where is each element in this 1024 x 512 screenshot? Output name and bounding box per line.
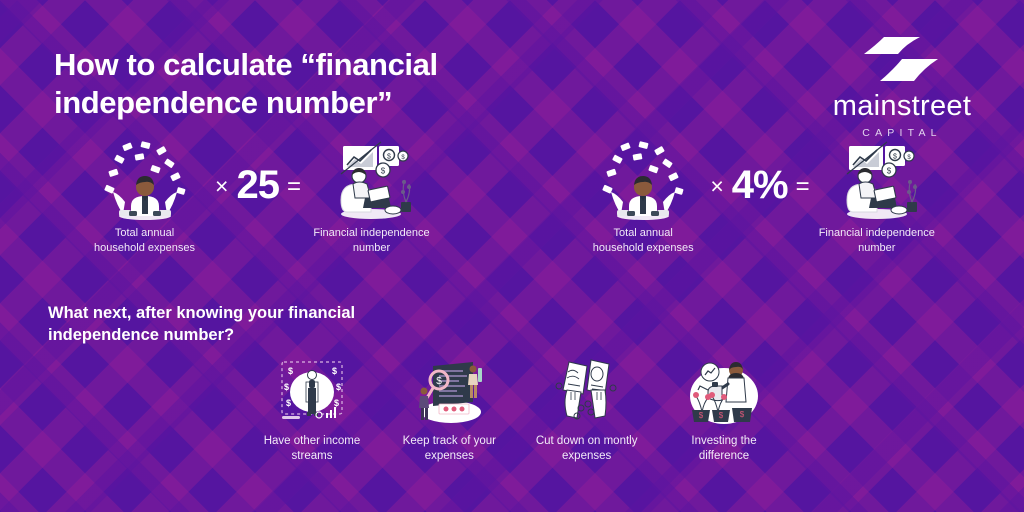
formula-4pct-right-caption: Financial independence number: [814, 226, 940, 255]
svg-text:$: $: [284, 382, 289, 392]
multiply-symbol: ×: [211, 173, 232, 200]
tip-investing-the-difference: $$$ Investing the difference: [660, 356, 788, 464]
formula-4pct-left-term: Total annual household expenses: [580, 140, 706, 255]
formula-4pct-right-term: $ $ $: [814, 140, 940, 255]
svg-text:$: $: [381, 167, 386, 176]
formula-4-percent: Total annual household expenses × 4% = $: [580, 140, 940, 260]
watering-money-plants-icon: $$$: [660, 356, 788, 426]
logo-wordmark: mainstreet: [802, 92, 1002, 121]
svg-text:$: $: [286, 398, 291, 408]
person-with-flying-papers-icon: [580, 140, 706, 220]
svg-text:$: $: [288, 366, 293, 376]
equals-symbol: =: [792, 173, 814, 201]
svg-text:$: $: [893, 154, 897, 161]
page-title-line-1: How to calculate “financial: [54, 46, 574, 84]
formula-25-right-term: $ $ $: [305, 140, 438, 255]
expense-tracking-board-icon: $: [385, 356, 513, 426]
next-section-heading: What next, after knowing your financial …: [48, 303, 408, 347]
tip-have-other-income-streams: $$ $$ $$ Have other income streams: [248, 356, 376, 464]
svg-text:$: $: [332, 366, 337, 376]
formula-25-right-caption: Financial independence number: [305, 226, 438, 255]
next-heading-line-1: What next, after knowing your financial: [48, 303, 408, 325]
next-heading-line-2: independence number?: [48, 325, 408, 347]
formula-25-factor: 25: [232, 163, 283, 208]
svg-text:$: $: [336, 382, 341, 392]
formula-25-left-term: Total annual household expenses: [78, 140, 211, 255]
svg-text:$: $: [699, 411, 704, 420]
person-with-flying-papers-icon: [78, 140, 211, 220]
tip-keep-track-of-expenses: $: [385, 356, 513, 464]
page-title: How to calculate “financial independence…: [54, 46, 574, 121]
tip-cut-down-monthly-expenses: Cut down on montly expenses: [523, 356, 651, 464]
multiply-symbol: ×: [706, 173, 727, 200]
svg-text:$: $: [887, 167, 892, 176]
logo-tagline: CAPITAL: [802, 127, 1002, 139]
person-on-beanbag-with-laptop-icon: $ $ $: [305, 140, 438, 220]
formula-25: Total annual household expenses × 25 = $: [78, 140, 438, 260]
tip-caption: Keep track of your expenses: [385, 434, 513, 464]
tips-row: $$ $$ $$ Have other income streams: [248, 356, 788, 464]
svg-text:$: $: [740, 410, 745, 419]
tearing-bill-coins-icon: [523, 356, 651, 426]
svg-text:$: $: [437, 376, 443, 387]
equals-symbol: =: [283, 173, 305, 201]
formula-4pct-left-caption: Total annual household expenses: [580, 226, 706, 255]
infographic-canvas: How to calculate “financial independence…: [0, 0, 1024, 512]
svg-text:$: $: [334, 398, 339, 408]
tip-caption: Have other income streams: [248, 434, 376, 464]
page-title-line-2: independence number”: [54, 84, 574, 122]
tip-caption: Investing the difference: [660, 434, 788, 464]
tip-caption: Cut down on montly expenses: [523, 434, 651, 464]
income-streams-dollars-icon: $$ $$ $$: [248, 356, 376, 426]
formula-25-left-caption: Total annual household expenses: [78, 226, 211, 255]
svg-text:$: $: [719, 411, 724, 420]
person-on-beanbag-with-laptop-icon: $ $ $: [814, 140, 940, 220]
brand-logo: mainstreet CAPITAL: [802, 34, 1002, 139]
ribbon-wave-mark-icon: [854, 34, 950, 84]
svg-text:$: $: [388, 154, 392, 161]
formula-4pct-factor: 4%: [728, 163, 792, 208]
